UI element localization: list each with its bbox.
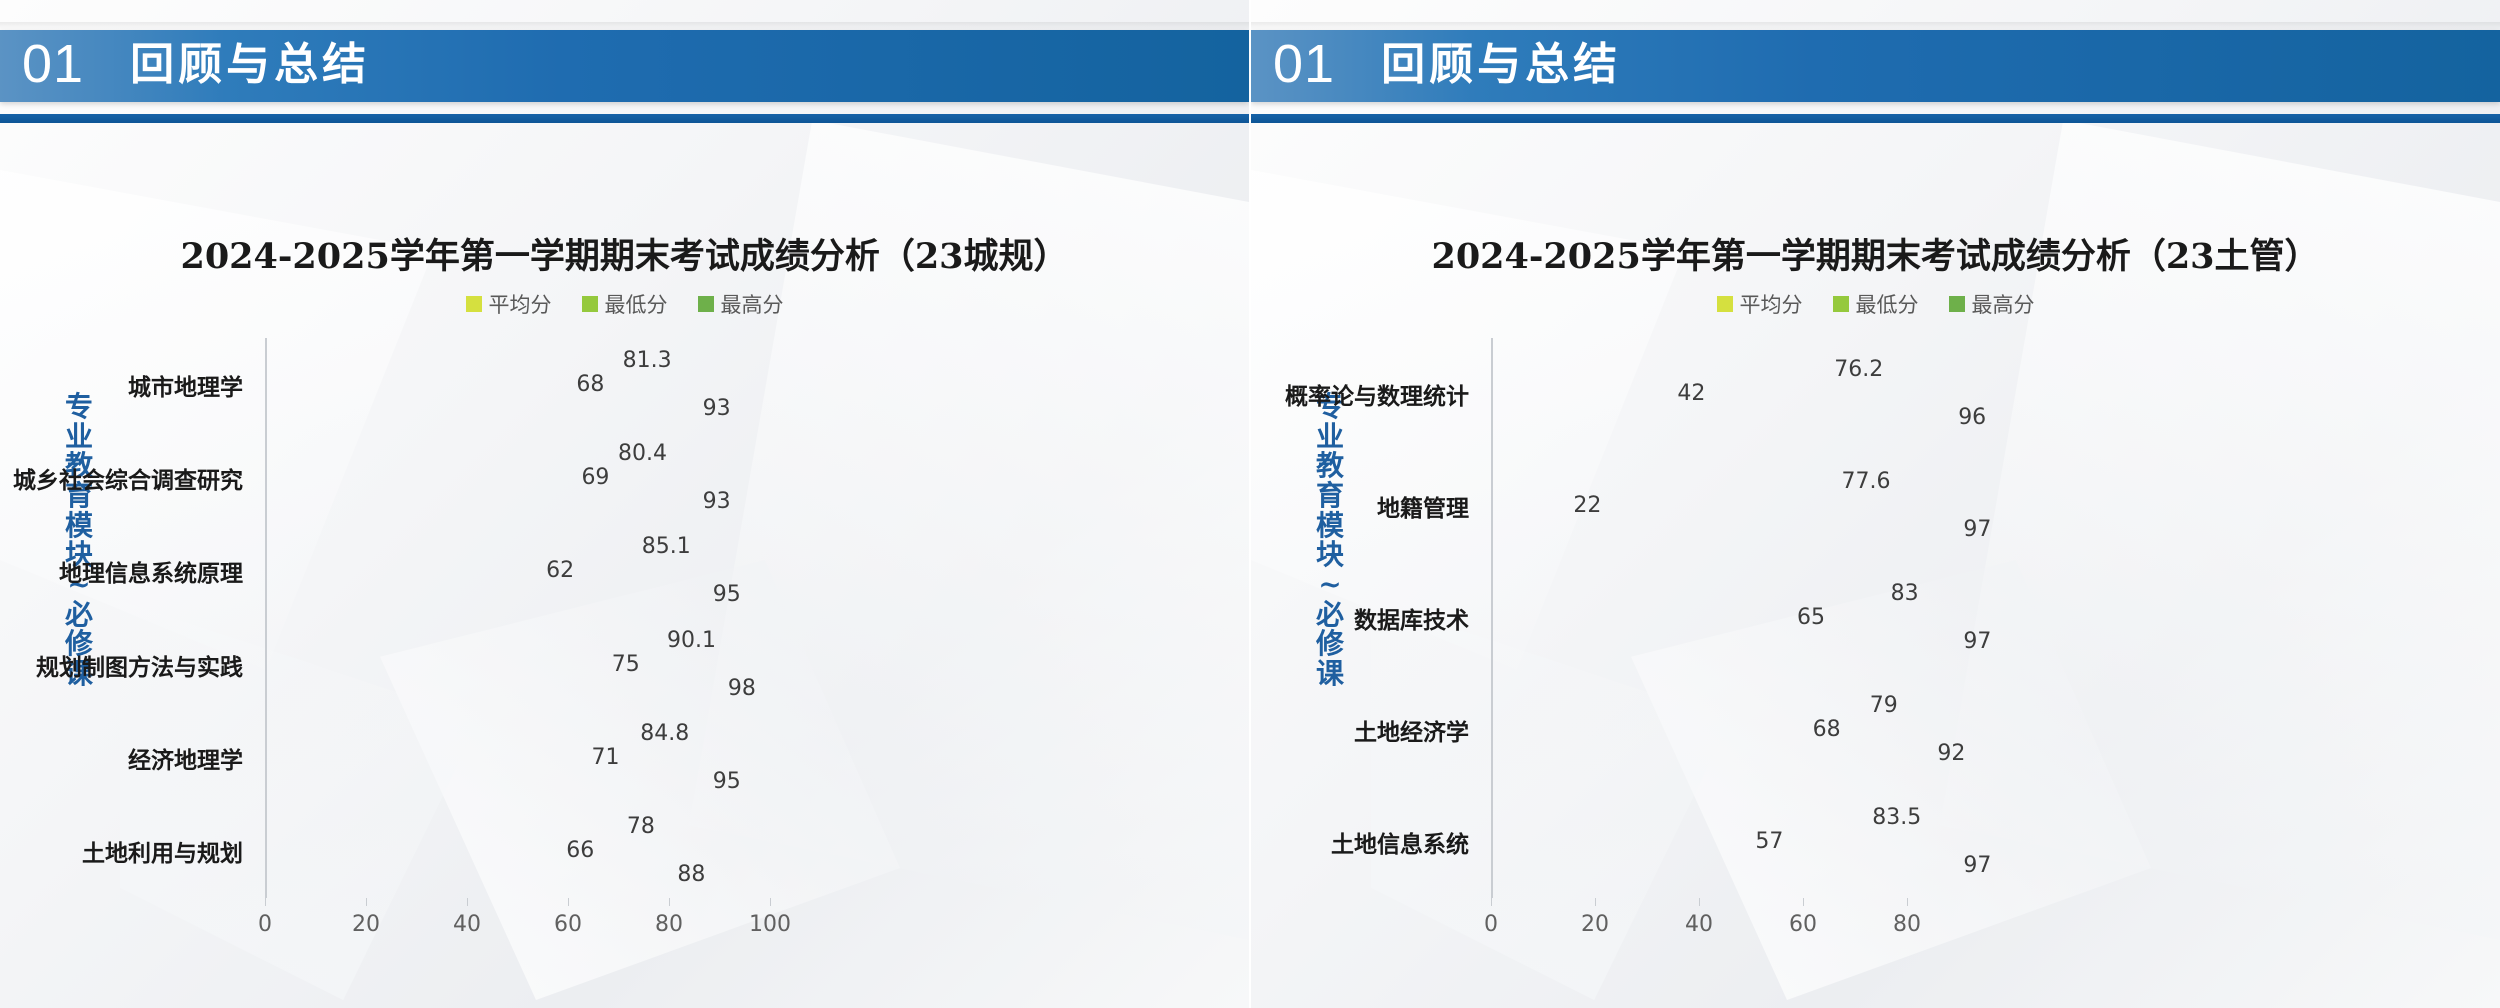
x-axis-tick-label: 0: [1484, 912, 1498, 937]
y-axis-title-char: 模: [58, 511, 102, 541]
bar-value-label: 79: [1870, 693, 1898, 718]
x-axis-tick-label: 0: [258, 912, 272, 937]
legend-swatch-icon: [1717, 296, 1733, 312]
y-axis-title-char: 模: [1309, 511, 1353, 541]
bar-value-label: 84.8: [640, 721, 689, 746]
bar: 92: [1493, 745, 1971, 763]
x-axis-tick-label: 80: [1893, 912, 1921, 937]
chart-legend: 平均分最低分最高分: [0, 289, 1249, 319]
header-shadow: [0, 22, 1249, 30]
bar: 83: [1493, 585, 1925, 603]
bar-value-label: 65: [1797, 605, 1825, 630]
bar: 95: [267, 773, 747, 791]
bar: 75: [267, 656, 646, 674]
bar-value-label: 76.2: [1834, 357, 1883, 382]
chart-title: 2024-2025学年第一学期期末考试成绩分析（23土管）: [1251, 228, 2500, 279]
plot-area: 概率论与数理统计76.24296地籍管理77.62297数据库技术836597土…: [1491, 338, 2011, 898]
bar: 68: [1493, 721, 1847, 739]
x-axis-tick: [1699, 898, 1700, 906]
bar-value-label: 97: [1963, 853, 1991, 878]
bar-value-label: 97: [1963, 629, 1991, 654]
y-axis-title-char: 必: [58, 600, 102, 630]
bar-value-label: 68: [1813, 717, 1841, 742]
slide-left: 01 回顾与总结 2024-2025学年第一学期期末考试成绩分析（23城规） 平…: [0, 0, 1249, 1008]
bar-value-label: 22: [1573, 493, 1601, 518]
x-axis-tick-label: 20: [352, 912, 380, 937]
y-axis-title-char: 课: [1309, 659, 1353, 689]
bar-value-label: 69: [581, 465, 609, 490]
bar-value-label: 96: [1958, 405, 1986, 430]
bar-value-label: 77.6: [1842, 469, 1891, 494]
y-axis-title-char: 育: [1309, 481, 1353, 511]
legend-swatch-icon: [1949, 296, 1965, 312]
x-axis-tick: [265, 898, 266, 906]
legend-label: 最高分: [1972, 289, 2035, 319]
category-label: 地籍管理: [1377, 489, 1469, 523]
bar: 66: [267, 842, 600, 860]
legend-swatch-icon: [698, 296, 714, 312]
bar-value-label: 98: [728, 676, 756, 701]
category-label: 土地信息系统: [1331, 825, 1469, 859]
bar: 57: [1493, 833, 1789, 851]
bar-value-label: 68: [576, 372, 604, 397]
slide-header: 01 回顾与总结: [0, 30, 1249, 102]
x-axis-tick-label: 40: [1685, 912, 1713, 937]
header-shadow: [1251, 22, 2500, 30]
bar: 96: [1493, 409, 1992, 427]
bar: 93: [267, 400, 737, 418]
legend-label: 最低分: [605, 289, 668, 319]
bar: 97: [1493, 521, 1997, 539]
bar-value-label: 93: [703, 396, 731, 421]
bar: 90.1: [267, 632, 722, 650]
y-axis-title-char: ~: [1309, 570, 1353, 600]
legend-item: 最高分: [698, 289, 784, 319]
legend-item: 平均分: [1717, 289, 1803, 319]
bar: 97: [1493, 633, 1997, 651]
bar-value-label: 71: [592, 745, 620, 770]
bar-value-label: 80.4: [618, 441, 667, 466]
header-rule: [0, 114, 1249, 123]
legend-swatch-icon: [1833, 296, 1849, 312]
x-axis-tick-label: 100: [749, 912, 791, 937]
category-label: 土地利用与规划: [82, 834, 243, 868]
slide-right: 01 回顾与总结 2024-2025学年第一学期期末考试成绩分析（23土管） 平…: [1251, 0, 2500, 1008]
bar-value-label: 92: [1937, 741, 1965, 766]
bar-value-label: 75: [612, 652, 640, 677]
legend-item: 平均分: [466, 289, 552, 319]
category-label: 土地经济学: [1354, 713, 1469, 747]
bar: 77.6: [1493, 473, 1897, 491]
y-axis-title-char: 专: [58, 392, 102, 422]
bar: 93: [267, 493, 737, 511]
bar: 83.5: [1493, 809, 1927, 827]
section-number: 01: [1273, 37, 1335, 95]
bar: 62: [267, 562, 580, 580]
category-label: 概率论与数理统计: [1285, 377, 1469, 411]
chart-legend: 平均分最低分最高分: [1251, 289, 2500, 319]
x-axis-tick: [366, 898, 367, 906]
bar: 88: [267, 866, 711, 884]
category-label: 城乡社会综合调查研究: [13, 461, 243, 495]
x-axis-tick-label: 40: [453, 912, 481, 937]
bar-value-label: 42: [1677, 381, 1705, 406]
category-label: 地理信息系统原理: [59, 554, 243, 588]
y-axis-title: 专业教育模块~必修课: [1309, 392, 1353, 689]
legend-item: 最低分: [582, 289, 668, 319]
x-axis-tick: [770, 898, 771, 906]
bar-value-label: 95: [713, 582, 741, 607]
y-axis-title: 专业教育模块~必修课: [58, 392, 102, 689]
y-axis-title-char: 教: [1309, 451, 1353, 481]
section-number: 01: [22, 37, 84, 95]
y-axis-title-char: 业: [1309, 422, 1353, 452]
bar-value-label: 88: [677, 862, 705, 887]
bar: 65: [1493, 609, 1831, 627]
legend-label: 平均分: [1740, 289, 1803, 319]
bar: 81.3: [267, 352, 678, 370]
bar: 68: [267, 376, 610, 394]
x-axis-tick-label: 80: [655, 912, 683, 937]
bar: 76.2: [1493, 361, 1889, 379]
x-axis-tick: [1907, 898, 1908, 906]
x-axis-tick: [1491, 898, 1492, 906]
x-axis-tick: [1803, 898, 1804, 906]
bar: 71: [267, 749, 626, 767]
y-axis-title-char: 块: [1309, 540, 1353, 570]
x-axis-tick: [467, 898, 468, 906]
y-axis-title-char: 修: [1309, 629, 1353, 659]
bar: 98: [267, 680, 762, 698]
bar: 22: [1493, 497, 1607, 515]
bar-value-label: 97: [1963, 517, 1991, 542]
bar-value-label: 85.1: [642, 534, 691, 559]
bar-value-label: 83: [1891, 581, 1919, 606]
legend-label: 平均分: [489, 289, 552, 319]
legend-label: 最低分: [1856, 289, 1919, 319]
bar-value-label: 83.5: [1872, 805, 1921, 830]
bar: 95: [267, 586, 747, 604]
x-axis-tick-label: 60: [1789, 912, 1817, 937]
legend-swatch-icon: [582, 296, 598, 312]
slide-header: 01 回顾与总结: [1251, 30, 2500, 102]
legend-label: 最高分: [721, 289, 784, 319]
slide-divider: [1249, 0, 1251, 1008]
x-axis-tick: [568, 898, 569, 906]
section-title: 回顾与总结: [1381, 43, 1621, 90]
y-axis-title-char: 必: [1309, 600, 1353, 630]
bar-value-label: 57: [1755, 829, 1783, 854]
category-label: 规划制图方法与实践: [36, 648, 243, 682]
category-label: 经济地理学: [128, 741, 243, 775]
category-label: 城市地理学: [128, 368, 243, 402]
x-axis-tick-label: 60: [554, 912, 582, 937]
plot-area: 城市地理学81.36893城乡社会综合调查研究80.46993地理信息系统原理8…: [265, 338, 770, 898]
bar-value-label: 90.1: [667, 628, 716, 653]
y-axis-title-char: 业: [58, 422, 102, 452]
bar: 79: [1493, 697, 1904, 715]
y-axis-line: [265, 338, 267, 898]
legend-item: 最高分: [1949, 289, 2035, 319]
bar: 97: [1493, 857, 1997, 875]
bar-value-label: 93: [703, 489, 731, 514]
slide-pair: 01 回顾与总结 2024-2025学年第一学期期末考试成绩分析（23城规） 平…: [0, 0, 2500, 1008]
bar: 78: [267, 818, 661, 836]
bar: 42: [1493, 385, 1711, 403]
bar-value-label: 62: [546, 558, 574, 583]
bar-value-label: 81.3: [623, 348, 672, 373]
legend-swatch-icon: [466, 296, 482, 312]
bar: 80.4: [267, 445, 673, 463]
bar-value-label: 95: [713, 769, 741, 794]
x-axis-tick-label: 20: [1581, 912, 1609, 937]
chart-title: 2024-2025学年第一学期期末考试成绩分析（23城规）: [0, 228, 1249, 279]
category-label: 数据库技术: [1354, 601, 1469, 635]
bar-value-label: 66: [566, 838, 594, 863]
x-axis-tick: [669, 898, 670, 906]
bar-value-label: 78: [627, 814, 655, 839]
section-title: 回顾与总结: [130, 43, 370, 90]
x-axis-tick: [1595, 898, 1596, 906]
legend-item: 最低分: [1833, 289, 1919, 319]
header-rule: [1251, 114, 2500, 123]
bar: 85.1: [267, 538, 697, 556]
bar: 84.8: [267, 725, 695, 743]
bar: 69: [267, 469, 615, 487]
